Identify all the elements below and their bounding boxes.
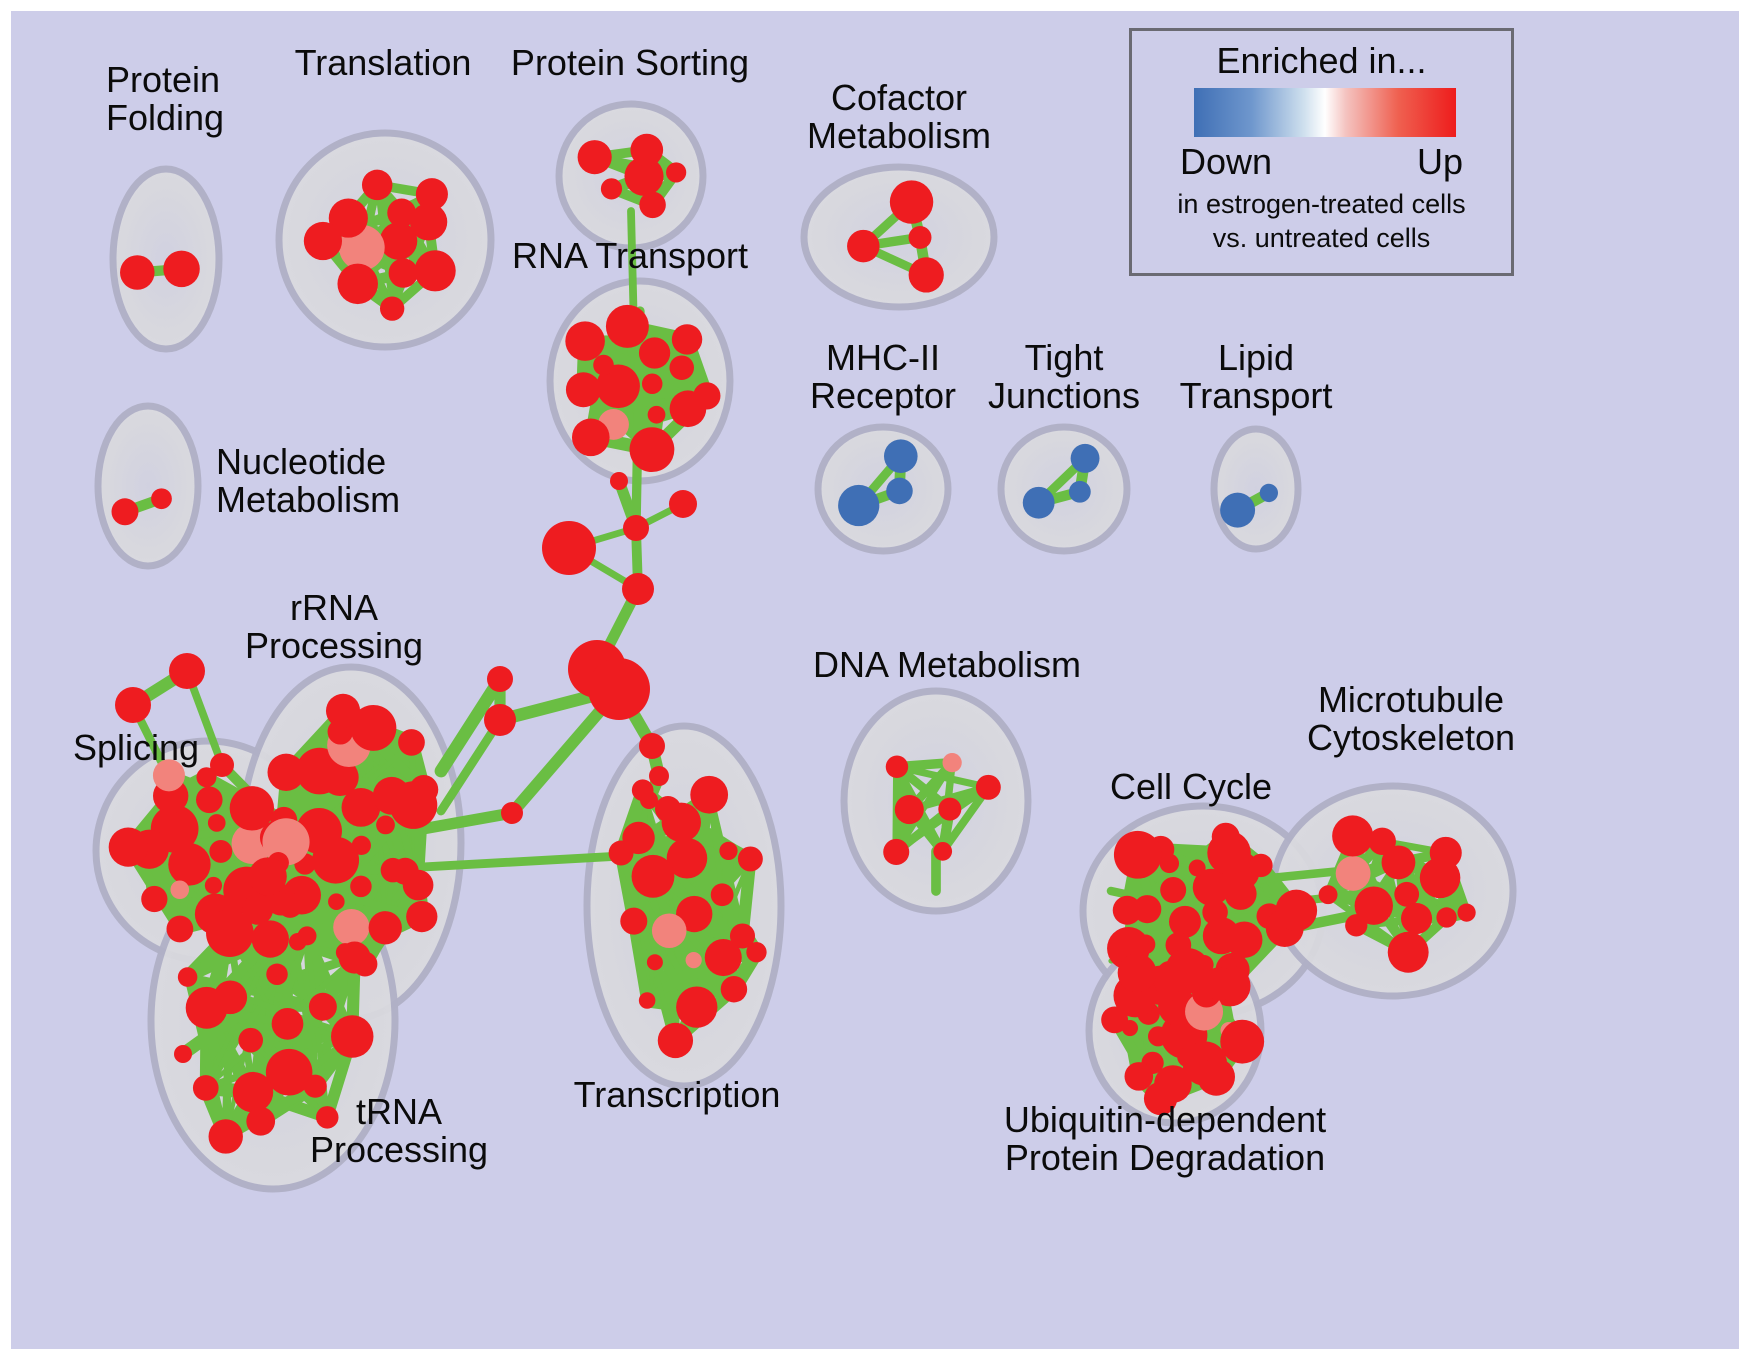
network-node [1336,856,1371,891]
network-node [409,775,438,804]
network-node [1430,837,1462,869]
cluster-label-nucleotide-metabolism: Nucleotide Metabolism [216,443,400,519]
cluster-label-rna-transport: RNA Transport [512,237,748,275]
network-node [976,775,1001,800]
network-node [238,1028,263,1053]
network-node [252,920,289,957]
network-node [266,964,288,986]
network-node [593,355,614,376]
network-node [1275,890,1317,932]
network-node [326,694,360,728]
network-node [676,986,717,1027]
network-node [606,305,649,348]
network-node [339,942,371,974]
network-node [719,842,737,860]
legend-down-label: Down [1180,141,1272,183]
network-node [115,687,151,723]
network-node [249,857,287,895]
network-node [622,573,654,605]
network-node [163,251,200,288]
network-node [609,841,634,866]
network-node [174,1045,192,1063]
network-node [350,876,371,897]
network-plot-area: Protein Folding Translation Protein Sort… [11,11,1739,1349]
network-node [639,733,665,759]
network-node [601,178,622,199]
network-node [658,1023,693,1058]
network-node [632,855,675,898]
network-node [267,754,304,791]
network-node [647,954,663,970]
network-node [1212,823,1240,851]
legend-caption-line1: in estrogen-treated cells [1132,189,1511,220]
network-node [309,993,337,1021]
cluster-label-trna-processing: tRNA Processing [310,1093,488,1169]
cluster-label-mhc-ii-receptor: MHC-II Receptor [810,339,956,415]
network-node [909,226,932,249]
network-node [721,976,747,1002]
network-node [1101,1006,1128,1033]
network-node [639,992,656,1009]
network-node [639,192,666,219]
network-node [210,753,234,777]
network-node [337,264,378,305]
network-node [1436,907,1456,927]
network-node [1148,1026,1168,1046]
network-node [298,926,317,945]
network-node [328,893,345,910]
network-node [933,842,952,861]
network-node [487,666,513,692]
network-node [666,162,686,182]
network-node [610,472,628,490]
network-node [501,802,523,824]
network-node [1189,860,1206,877]
cluster-ellipse-lipid-transport [1214,429,1298,549]
network-node [886,478,913,505]
network-node [566,372,601,407]
network-node [151,488,172,509]
network-node [690,776,728,814]
network-node [943,753,962,772]
cluster-ellipse-mhc-ii-receptor [818,427,948,551]
network-node [277,893,302,918]
network-node [1169,906,1201,938]
cluster-label-rrna-processing: rRNA Processing [245,589,423,665]
cluster-ellipse-nucleotide-metabolism [98,406,198,566]
network-node [542,521,596,575]
network-node [686,952,702,968]
network-node [1388,932,1429,973]
network-node [1394,882,1419,907]
network-node [398,729,425,756]
network-node [272,1008,304,1040]
network-node [141,886,167,912]
cluster-label-dna-metabolism: DNA Metabolism [813,646,1081,684]
network-node [630,134,663,167]
network-node [588,658,650,720]
network-node [209,840,232,863]
network-node [1114,831,1162,879]
cluster-label-cofactor-metabolism: Cofactor Metabolism [807,79,991,155]
network-node [304,222,342,260]
network-node [1401,903,1432,934]
network-node [170,880,189,899]
network-node [909,257,944,292]
cluster-label-translation: Translation [295,44,472,82]
network-node [196,787,223,814]
network-node [1332,815,1373,856]
network-node [484,704,516,736]
legend-up-label: Up [1417,141,1463,183]
network-node [1113,896,1142,925]
figure-canvas: Protein Folding Translation Protein Sort… [0,0,1750,1360]
network-node [1260,484,1278,502]
cluster-label-lipid-transport: Lipid Transport [1180,339,1333,415]
network-node [642,374,663,395]
network-node [1069,481,1091,503]
legend-color-gradient-bar [1194,88,1456,137]
network-node [693,382,720,409]
network-node [178,967,198,987]
network-node [1071,444,1100,473]
network-node [403,870,434,901]
cluster-label-splicing: Splicing [73,729,199,767]
network-node [895,795,924,824]
network-node [746,942,766,962]
cluster-label-cell-cycle: Cell Cycle [1110,768,1272,806]
network-node [938,798,961,821]
network-node [565,321,605,361]
legend-title: Enriched in... [1132,40,1511,82]
network-node [406,901,437,932]
network-node [639,337,670,368]
network-node [648,406,666,424]
network-node [166,916,193,943]
network-node [883,839,909,865]
legend-box: Enriched in... Down Up in estrogen-treat… [1129,28,1514,276]
network-node [649,766,669,786]
cluster-label-protein-folding: Protein Folding [106,61,224,137]
network-node [1249,854,1272,877]
network-node [208,814,226,832]
network-node [1197,1058,1235,1096]
network-node [415,250,456,291]
network-node [578,140,612,174]
network-node [652,913,687,948]
network-node [205,877,222,894]
cluster-ellipse-tight-junctions [1001,427,1127,551]
network-node [711,883,734,906]
network-node [1203,967,1236,1000]
cluster-label-protein-sorting: Protein Sorting [511,44,749,82]
cluster-label-ubiquitin-protein-degradation: Ubiquitin-dependent Protein Degradation [1004,1101,1326,1177]
network-node [738,846,763,871]
network-node [193,1075,219,1101]
network-node [186,987,228,1029]
legend-caption-line2: vs. untreated cells [1132,223,1511,254]
network-node [630,427,675,472]
network-node [209,1119,243,1153]
network-node [362,170,393,201]
network-node [1220,1020,1264,1064]
network-node [847,230,880,263]
network-node [1023,487,1055,519]
network-node [1220,493,1255,528]
network-node [669,490,697,518]
network-node [389,258,418,287]
network-node [1319,885,1338,904]
network-node [620,908,647,935]
network-node [331,1015,373,1057]
network-node [1160,877,1186,903]
network-node [380,296,404,320]
network-node [416,178,448,210]
network-node [206,909,254,957]
network-node [109,827,148,866]
network-node [120,255,155,290]
cluster-label-tight-junctions: Tight Junctions [988,339,1140,415]
cluster-label-microtubule-cytoskeleton: Microtubule Cytoskeleton [1307,681,1515,757]
network-node [333,909,369,945]
network-node [1125,1062,1154,1091]
network-node [246,1107,275,1136]
network-node [572,419,610,457]
network-node [886,756,908,778]
network-node [623,515,649,541]
network-node [169,653,205,689]
network-node [890,180,933,223]
cluster-label-transcription: Transcription [574,1076,781,1114]
network-node [1345,914,1367,936]
network-node [669,355,694,380]
network-node [233,1072,273,1112]
network-node [376,816,395,835]
network-node [1226,922,1262,958]
network-node [672,324,702,354]
network-node [369,911,402,944]
network-node [1118,953,1157,992]
network-node [1457,904,1475,922]
network-node [838,485,879,526]
network-node [655,796,681,822]
network-node [884,439,918,473]
network-node [112,498,139,525]
